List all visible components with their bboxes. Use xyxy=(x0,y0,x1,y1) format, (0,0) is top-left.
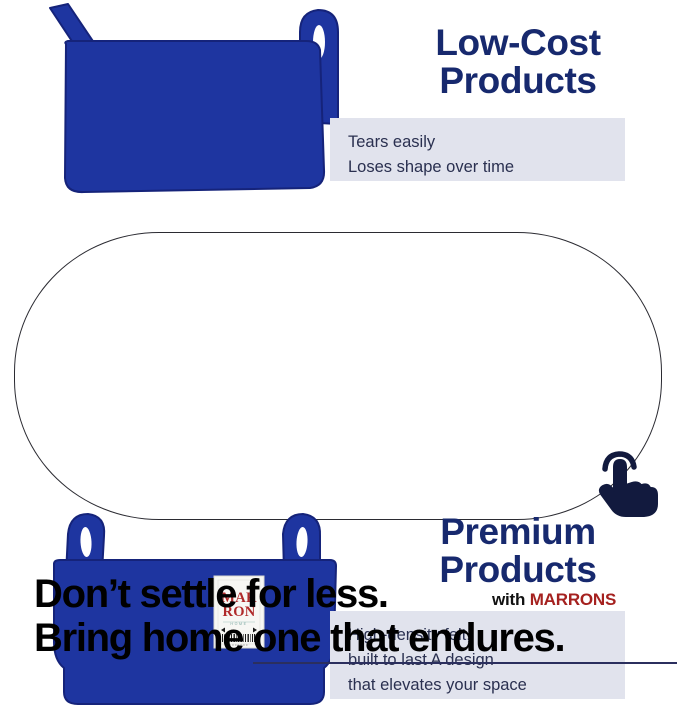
footer-with-text: with xyxy=(492,590,530,609)
footer-line-1: Don’t settle for less. xyxy=(34,572,388,617)
headline-low-cost: Low-Cost Products xyxy=(358,24,678,101)
description-box-low-cost: Tears easily Loses shape over time xyxy=(330,118,625,181)
footer-brand-note: with MARRONS xyxy=(492,590,616,610)
description-line: Loses shape over time xyxy=(348,155,625,180)
comparison-row-premium: MAR RON HOME 0000000 xyxy=(0,228,679,524)
description-line: that elevates your space xyxy=(348,673,625,698)
description-line: Tears easily xyxy=(348,130,625,155)
footer-brand-name: MARRONS xyxy=(530,590,616,609)
footer-underline xyxy=(253,662,677,664)
tap-hand-icon xyxy=(592,447,664,519)
headline-low-cost-line2: Products xyxy=(358,62,678,100)
headline-low-cost-line1: Low-Cost xyxy=(358,24,678,62)
footer-line-2: Bring home one that endures. xyxy=(34,616,564,661)
comparison-row-low-cost: Low-Cost Products Tears easily Loses sha… xyxy=(0,0,679,215)
product-image-low-cost xyxy=(28,2,348,200)
footer-tagline: Don’t settle for less. Bring home one th… xyxy=(0,560,679,666)
